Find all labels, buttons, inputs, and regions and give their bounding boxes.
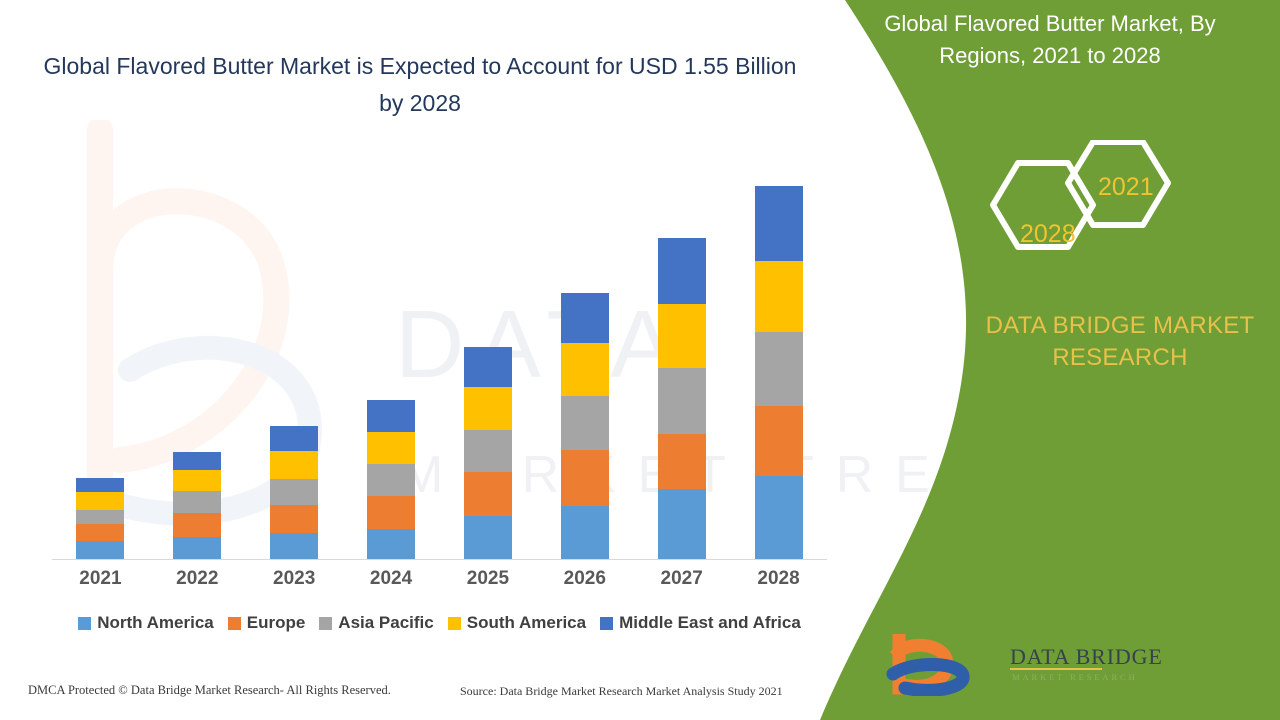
hex-label-2028: 2028 <box>1020 220 1076 249</box>
legend-item-2[interactable]: Asia Pacific <box>319 613 433 633</box>
bar-group <box>52 150 827 559</box>
bar-segment-2024-0[interactable] <box>367 529 415 559</box>
legend-label: Europe <box>247 613 306 633</box>
bar-segment-2028-3[interactable] <box>755 261 803 332</box>
legend-label: North America <box>97 613 214 633</box>
bar-segment-2027-1[interactable] <box>658 434 706 489</box>
bar-segment-2028-2[interactable] <box>755 332 803 406</box>
bar-segment-2026-0[interactable] <box>561 506 609 559</box>
infographic-root: DATA MARKET TRENDS Global Flavored Butte… <box>0 0 1280 720</box>
bar-segment-2022-2[interactable] <box>173 491 221 513</box>
page-title: Global Flavored Butter Market is Expecte… <box>40 48 800 122</box>
bar-segment-2023-1[interactable] <box>270 505 318 533</box>
logo-divider <box>1010 668 1102 670</box>
bar-2023[interactable] <box>270 426 318 559</box>
legend-item-1[interactable]: Europe <box>228 613 306 633</box>
bar-segment-2023-3[interactable] <box>270 451 318 479</box>
x-label-2023: 2023 <box>270 568 318 590</box>
brand-line-2: RESEARCH <box>1052 344 1187 371</box>
bar-segment-2021-3[interactable] <box>76 492 124 510</box>
bar-segment-2021-1[interactable] <box>76 524 124 541</box>
x-label-2028: 2028 <box>755 568 803 590</box>
bar-2024[interactable] <box>367 400 415 559</box>
brand-name: DATA BRIDGE MARKET RESEARCH <box>955 310 1280 374</box>
bar-segment-2027-2[interactable] <box>658 368 706 434</box>
legend-label: Middle East and Africa <box>619 613 801 633</box>
bar-segment-2022-0[interactable] <box>173 537 221 559</box>
bar-segment-2024-1[interactable] <box>367 496 415 529</box>
x-label-2022: 2022 <box>173 568 221 590</box>
x-label-2021: 2021 <box>76 568 124 590</box>
bar-2027[interactable] <box>658 238 706 559</box>
chart-legend: North AmericaEuropeAsia PacificSouth Ame… <box>52 613 827 633</box>
bar-segment-2028-4[interactable] <box>755 186 803 261</box>
source-text: Source: Data Bridge Market Research Mark… <box>460 684 783 699</box>
x-label-2027: 2027 <box>658 568 706 590</box>
bar-segment-2021-2[interactable] <box>76 510 124 524</box>
bar-segment-2025-0[interactable] <box>464 516 512 559</box>
bar-2022[interactable] <box>173 452 221 559</box>
x-label-2024: 2024 <box>367 568 415 590</box>
side-panel-title: Global Flavored Butter Market, By Region… <box>850 8 1250 72</box>
bar-segment-2028-1[interactable] <box>755 406 803 476</box>
stacked-bar-chart <box>52 150 827 560</box>
legend-label: South America <box>467 613 586 633</box>
legend-swatch-icon <box>448 617 461 630</box>
bar-segment-2027-0[interactable] <box>658 489 706 559</box>
bar-segment-2021-4[interactable] <box>76 478 124 492</box>
legend-swatch-icon <box>78 617 91 630</box>
legend-item-3[interactable]: South America <box>448 613 586 633</box>
bar-segment-2022-4[interactable] <box>173 452 221 470</box>
logo-wordmark: DATA BRIDGE <box>1010 644 1163 670</box>
bar-segment-2027-4[interactable] <box>658 238 706 304</box>
legend-label: Asia Pacific <box>338 613 433 633</box>
x-axis-labels: 20212022202320242025202620272028 <box>52 568 827 590</box>
bar-segment-2024-4[interactable] <box>367 400 415 432</box>
bar-segment-2025-4[interactable] <box>464 347 512 387</box>
copyright-text: DMCA Protected © Data Bridge Market Rese… <box>28 683 391 698</box>
x-axis-line <box>52 559 827 560</box>
brand-line-1: DATA BRIDGE MARKET <box>986 312 1255 339</box>
bar-2026[interactable] <box>561 293 609 559</box>
x-label-2025: 2025 <box>464 568 512 590</box>
bar-segment-2026-1[interactable] <box>561 450 609 506</box>
bar-2025[interactable] <box>464 347 512 559</box>
bar-segment-2028-0[interactable] <box>755 476 803 559</box>
hex-label-2021: 2021 <box>1098 173 1154 202</box>
hexagon-badges <box>980 140 1180 270</box>
bar-segment-2023-0[interactable] <box>270 533 318 559</box>
bar-segment-2021-0[interactable] <box>76 541 124 559</box>
bar-segment-2025-3[interactable] <box>464 387 512 430</box>
hexagon-outlines-icon <box>980 140 1180 270</box>
legend-swatch-icon <box>600 617 613 630</box>
legend-item-4[interactable]: Middle East and Africa <box>600 613 801 633</box>
legend-swatch-icon <box>319 617 332 630</box>
bar-segment-2025-1[interactable] <box>464 472 512 516</box>
bar-segment-2023-2[interactable] <box>270 479 318 505</box>
bar-segment-2023-4[interactable] <box>270 426 318 451</box>
bar-segment-2025-2[interactable] <box>464 430 512 472</box>
bar-segment-2026-4[interactable] <box>561 293 609 343</box>
bar-segment-2027-3[interactable] <box>658 304 706 368</box>
x-label-2026: 2026 <box>561 568 609 590</box>
bar-segment-2022-3[interactable] <box>173 470 221 491</box>
bar-segment-2022-1[interactable] <box>173 513 221 537</box>
bar-segment-2026-2[interactable] <box>561 396 609 450</box>
logo-tagline: MARKET RESEARCH <box>1012 672 1138 682</box>
bar-2021[interactable] <box>76 478 124 559</box>
bar-segment-2024-3[interactable] <box>367 432 415 464</box>
bar-2028[interactable] <box>755 186 803 559</box>
legend-swatch-icon <box>228 617 241 630</box>
legend-item-0[interactable]: North America <box>78 613 214 633</box>
bar-segment-2024-2[interactable] <box>367 464 415 496</box>
bar-segment-2026-3[interactable] <box>561 343 609 396</box>
